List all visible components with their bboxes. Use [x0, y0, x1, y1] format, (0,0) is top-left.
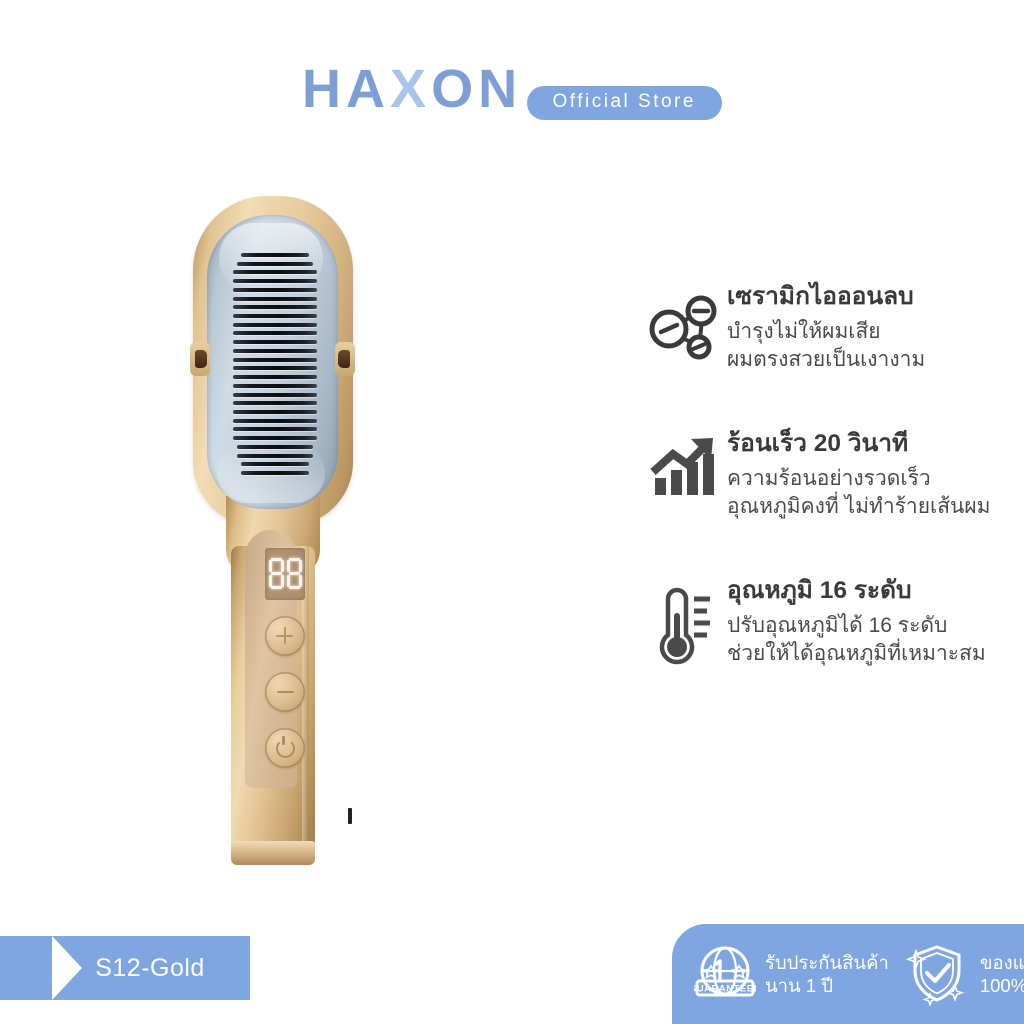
comb-tooth	[233, 297, 317, 301]
minus-icon	[277, 691, 294, 694]
product-image-hair-straightener-brush	[185, 196, 360, 896]
warranty-text: รับประกันสินค้า นาน 1 ปี	[765, 951, 889, 998]
comb-tooth	[233, 314, 317, 318]
comb-tooth	[237, 454, 313, 458]
comb-tooth	[233, 436, 317, 440]
comb-tooth	[233, 375, 317, 379]
control-panel	[245, 530, 297, 788]
increase-temperature-button[interactable]	[265, 616, 305, 656]
comb-tooth	[233, 427, 317, 431]
thermometer-icon	[645, 577, 723, 667]
comb-tooth	[233, 349, 317, 353]
handle-base-cap	[231, 841, 315, 865]
feature-item-temperature-levels: อุณหภูมิ 16 ระดับ ปรับอุณหภูมิได้ 16 ระด…	[645, 577, 1005, 668]
brand-logo-part-1: HA	[302, 59, 390, 119]
comb-tooth	[233, 288, 317, 292]
negative-ion-icon	[645, 283, 723, 365]
comb-tooth	[233, 366, 317, 370]
feature-title: เซรามิกไอออนลบ	[727, 283, 1005, 311]
feature-line-1: บำรุงไม่ให้ผมเสีย	[727, 318, 1005, 346]
comb-tooth	[237, 445, 313, 449]
warranty-line-1: รับประกันสินค้า	[765, 951, 889, 974]
variant-badge: S12-Gold	[0, 936, 250, 1000]
comb-tooth	[241, 471, 310, 475]
feature-title: ร้อนเร็ว 20 วินาที	[727, 430, 1005, 458]
comb-tooth	[233, 331, 317, 335]
svg-text:GUARANTEED: GUARANTEED	[694, 982, 756, 993]
feature-text-negative-ion: เซรามิกไอออนลบ บำรุงไม่ให้ผมเสีย ผมตรงสว…	[723, 283, 1005, 374]
feature-line-1: ปรับอุณหภูมิได้ 16 ระดับ	[727, 612, 1005, 640]
trust-item-warranty: GUARANTEED รับประกันสินค้า นาน 1 ปี	[694, 945, 889, 1003]
comb-tooth	[241, 462, 310, 466]
power-icon	[276, 739, 295, 758]
comb-tooth	[233, 410, 317, 414]
brand-logo-x-glyph: X	[390, 59, 431, 119]
official-store-badge: Official Store	[527, 86, 722, 120]
feature-text-fast-heat: ร้อนเร็ว 20 วินาที ความร้อนอย่างรวดเร็ว …	[723, 430, 1005, 521]
authentic-line-2: 100%	[980, 974, 1024, 997]
feature-line-2: ผมตรงสวยเป็นเงางาม	[727, 346, 1005, 374]
comb-tooth	[233, 393, 317, 397]
temperature-display	[265, 548, 305, 600]
comb-tooth	[233, 340, 317, 344]
feature-line-2: อุณหภูมิคงที่ ไม่ทำร้ายเส้นผม	[727, 493, 1005, 521]
display-digit-2	[287, 558, 302, 590]
comb-tooth	[233, 270, 317, 274]
guaranteed-badge-icon: GUARANTEED	[694, 945, 756, 1003]
handle-base-slot	[348, 808, 352, 824]
brand-logo: HAXON	[302, 62, 522, 116]
product-handle	[231, 546, 315, 856]
warranty-line-2: นาน 1 ปี	[765, 974, 889, 997]
side-notch-left	[195, 350, 207, 368]
authentic-text: ของแท้ 100%	[980, 951, 1024, 998]
ceramic-heating-plate	[207, 215, 338, 509]
brand-header: HAXON Official Store	[0, 62, 1024, 120]
comb-teeth-group	[233, 253, 317, 475]
feature-item-fast-heat: ร้อนเร็ว 20 วินาที ความร้อนอย่างรวดเร็ว …	[645, 430, 1005, 521]
comb-tooth	[233, 358, 317, 362]
comb-tooth	[237, 262, 313, 266]
feature-text-temperature-levels: อุณหภูมิ 16 ระดับ ปรับอุณหภูมิได้ 16 ระด…	[723, 577, 1005, 668]
feature-list: เซรามิกไอออนลบ บำรุงไม่ให้ผมเสีย ผมตรงสว…	[645, 283, 1005, 724]
comb-tooth	[233, 323, 317, 327]
authentic-line-1: ของแท้	[980, 951, 1024, 974]
comb-tooth	[233, 305, 317, 309]
feature-title: อุณหภูมิ 16 ระดับ	[727, 577, 1005, 605]
product-marketing-image: HAXON Official Store	[0, 0, 1024, 1024]
comb-tooth	[233, 401, 317, 405]
growth-chart-icon	[645, 430, 723, 498]
decrease-temperature-button[interactable]	[265, 672, 305, 712]
comb-tooth	[241, 253, 310, 257]
side-notch-right	[338, 350, 350, 368]
shield-check-icon	[903, 942, 971, 1006]
comb-tooth	[233, 279, 317, 283]
trust-item-authentic: ของแท้ 100%	[903, 942, 1024, 1006]
comb-tooth	[233, 384, 317, 388]
display-digit-1	[269, 558, 284, 590]
feature-item-negative-ion: เซรามิกไอออนลบ บำรุงไม่ให้ผมเสีย ผมตรงสว…	[645, 283, 1005, 374]
feature-line-2: ช่วยให้ได้อุณหภูมิที่เหมาะสม	[727, 640, 1005, 668]
trust-badge-panel: GUARANTEED รับประกันสินค้า นาน 1 ปี ของแ…	[672, 924, 1024, 1024]
comb-tooth	[233, 419, 317, 423]
feature-line-1: ความร้อนอย่างรวดเร็ว	[727, 465, 1005, 493]
brand-logo-part-2: ON	[431, 59, 522, 119]
power-button[interactable]	[265, 728, 305, 768]
variant-label: S12-Gold	[45, 954, 205, 983]
